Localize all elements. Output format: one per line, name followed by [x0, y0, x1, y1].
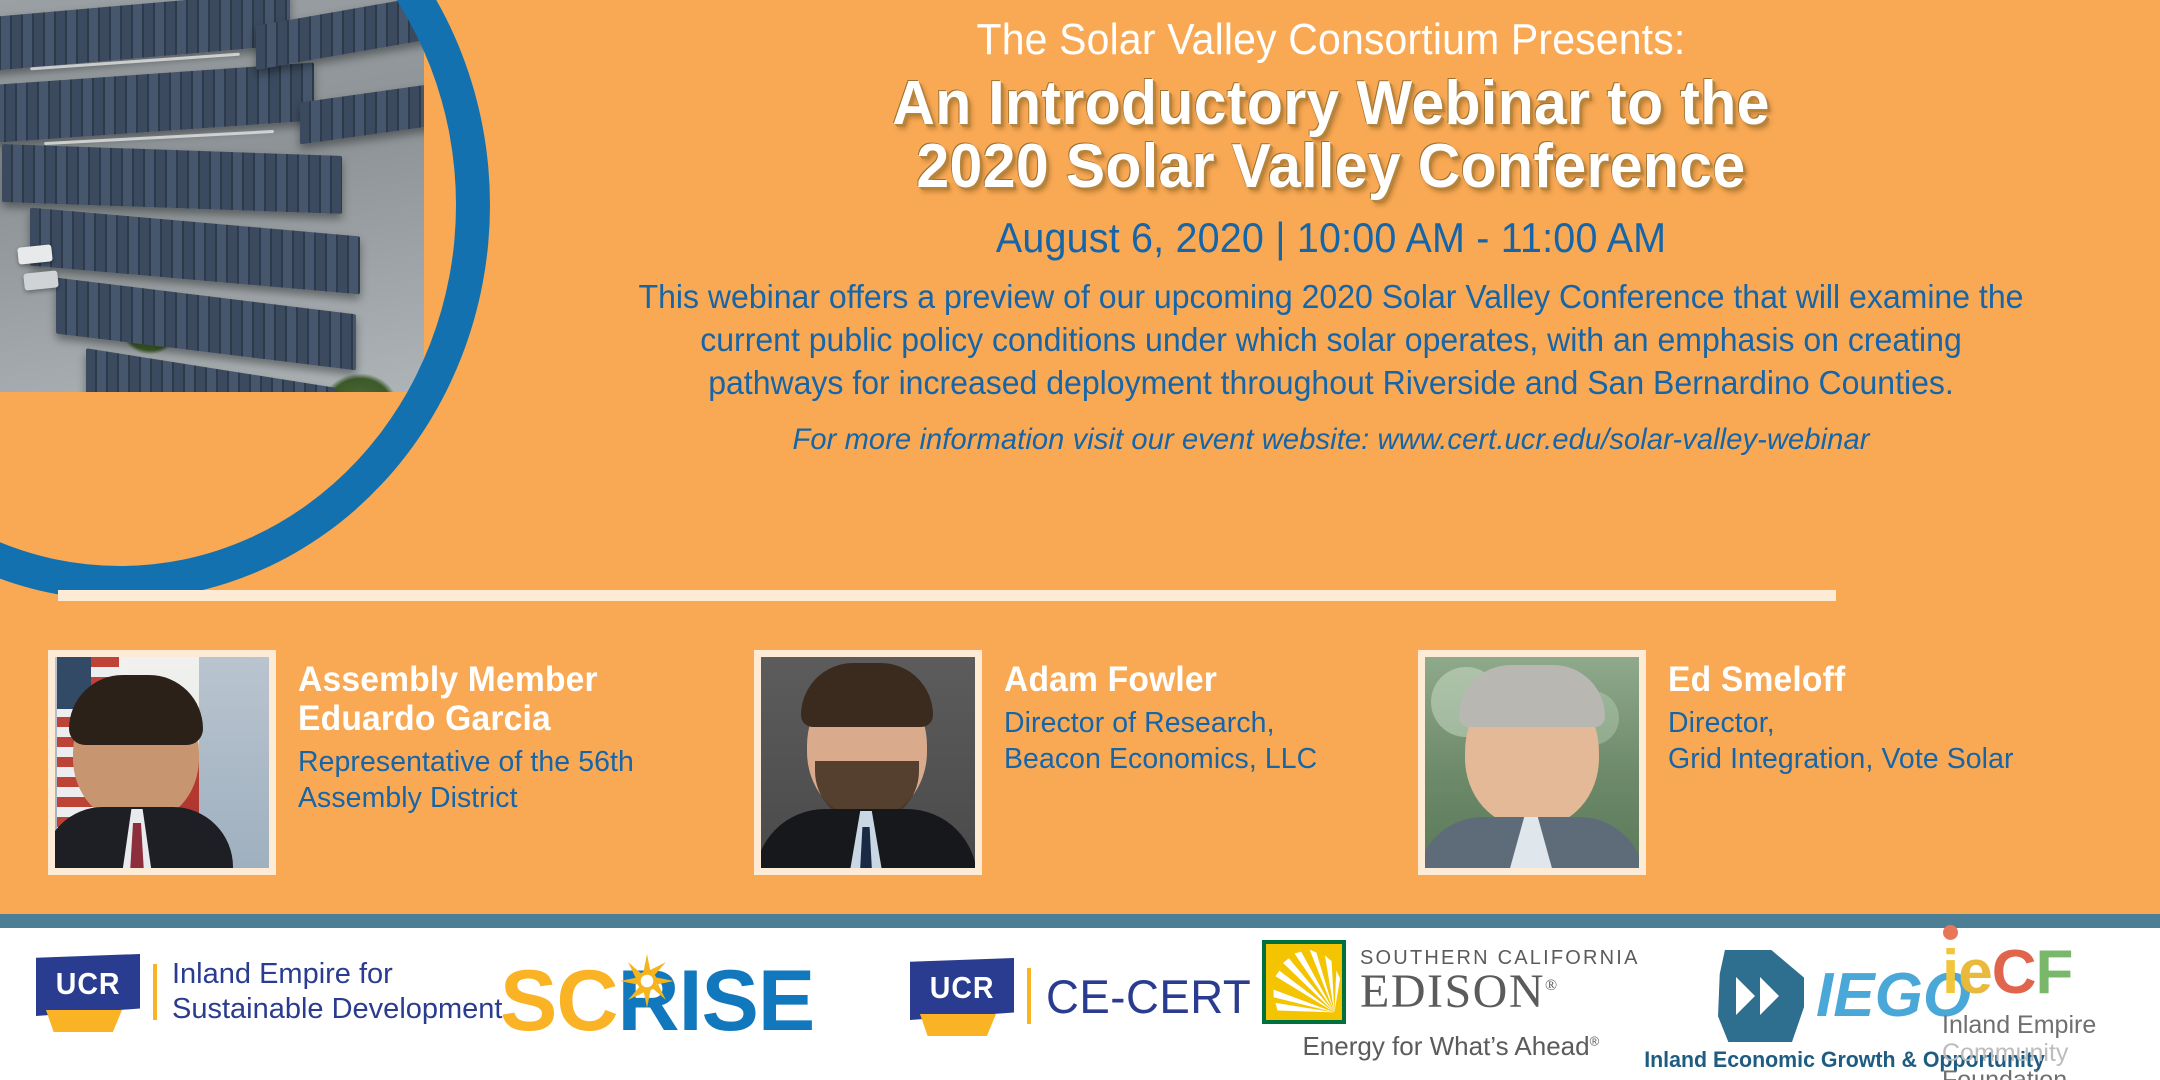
ucr-mark-icon: UCR	[910, 958, 1014, 1034]
registered-mark: ®	[1590, 1033, 1600, 1048]
ucr-wordmark: UCR	[930, 970, 995, 1006]
edison-lockup: SOUTHERN CALIFORNIA EDISON®	[1262, 940, 1640, 1024]
edison-sunburst-icon	[1262, 940, 1346, 1024]
sunburst-rays	[1266, 944, 1342, 1020]
solar-panel-row	[2, 144, 342, 214]
speaker-title-line-2: Grid Integration, Vote Solar	[1668, 742, 2014, 777]
speaker-name-line-2: Eduardo Garcia	[298, 699, 627, 738]
solar-carport-aerial-photo	[0, 0, 600, 600]
iecf-letter-i: i	[1942, 942, 1958, 1004]
scrise-blue-letters: RISE	[617, 953, 814, 1049]
speaker-card: Ed Smeloff Director, Grid Integration, V…	[1418, 650, 2021, 875]
speaker-photo-frame	[1418, 650, 1646, 875]
iecf-wordmark: ieCF	[1942, 942, 2072, 1004]
registered-mark: ®	[1545, 977, 1559, 994]
speaker-text: Ed Smeloff Director, Grid Integration, V…	[1668, 650, 2021, 777]
car	[23, 270, 59, 290]
logo-inland-empire-community-foundation[interactable]: ieCF Inland Empire Community Foundation …	[1942, 942, 2096, 1080]
speaker-title-line-2: Beacon Economics, LLC	[1004, 742, 1317, 777]
speaker-name: Adam Fowler	[1004, 660, 1311, 699]
iego-lockup: IEGO	[1718, 950, 1971, 1042]
logo-scrise[interactable]: SCRISE	[500, 958, 814, 1044]
car	[318, 469, 357, 489]
speaker-title: Director, Grid Integration, Vote Solar	[1668, 706, 2014, 777]
california-chevron-icon	[1718, 950, 1804, 1042]
hair	[1459, 665, 1605, 727]
hero-photo-region	[0, 0, 620, 600]
headline-block: The Solar Valley Consortium Presents: An…	[596, 14, 2066, 457]
solar-panel-row	[300, 81, 450, 144]
speaker-title-line-1: Representative of the 56th	[298, 745, 634, 780]
title-line-1: An Introductory Webinar to the	[633, 72, 2030, 135]
event-description: This webinar offers a preview of our upc…	[618, 276, 2044, 405]
speaker-title-line-2: Assembly District	[298, 781, 634, 816]
hair	[801, 663, 933, 727]
speaker-name: Ed Smeloff	[1668, 660, 2007, 699]
edison-line-main: EDISON®	[1360, 968, 1640, 1017]
speaker-title-line-1: Director,	[1668, 706, 2014, 741]
speaker-name: Assembly Member Eduardo Garcia	[298, 660, 627, 738]
label-line-1: Inland Empire for	[172, 957, 502, 992]
scrise-gold-letters: SC	[500, 953, 617, 1049]
iecf-letter-f: F	[2036, 942, 2073, 1004]
sponsor-logo-bar: UCR Inland Empire for Sustainable Develo…	[0, 928, 2160, 1080]
logo-ucr-inland-empire-sustainable-development[interactable]: UCR Inland Empire for Sustainable Develo…	[36, 954, 502, 1030]
speaker-title: Representative of the 56th Assembly Dist…	[298, 745, 634, 816]
logo-southern-california-edison[interactable]: SOUTHERN CALIFORNIA EDISON® Energy for W…	[1262, 940, 1640, 1062]
speaker-title: Director of Research, Beacon Economics, …	[1004, 706, 1317, 777]
speaker-card: Assembly Member Eduardo Garcia Represent…	[48, 650, 641, 875]
speaker-text: Adam Fowler Director of Research, Beacon…	[1004, 650, 1324, 777]
speaker-name-line-1: Assembly Member	[298, 660, 627, 699]
logo-divider-bar	[1027, 968, 1031, 1024]
section-divider	[58, 590, 1836, 601]
presenter-line: The Solar Valley Consortium Presents:	[647, 14, 2014, 66]
iecf-line-2: Community	[1942, 1040, 2096, 1068]
iecf-line-1: Inland Empire	[1942, 1012, 2096, 1040]
speaker-photo-frame	[754, 650, 982, 875]
logo-divider-bar	[153, 964, 157, 1020]
event-website-line[interactable]: For more information visit our event web…	[618, 423, 2044, 457]
event-datetime: August 6, 2020 | 10:00 AM - 11:00 AM	[640, 214, 2022, 262]
edison-sunburst-inner	[1266, 944, 1342, 1020]
label-line-2: Sustainable Development	[172, 992, 502, 1027]
edison-wordmark: SOUTHERN CALIFORNIA EDISON®	[1360, 948, 1640, 1017]
ucr-mark-icon: UCR	[36, 954, 140, 1030]
speaker-card: Adam Fowler Director of Research, Beacon…	[754, 650, 1324, 875]
ucr-parallelogram: UCR	[910, 958, 1014, 1020]
chevron-icon	[1736, 977, 1755, 1015]
portrait-ed-smeloff	[1425, 657, 1639, 868]
speaker-text: Assembly Member Eduardo Garcia Represent…	[298, 650, 641, 816]
car	[141, 469, 182, 491]
ucr-parallelogram: UCR	[36, 954, 140, 1016]
ce-cert-label: CE-CERT	[1046, 969, 1251, 1024]
page-title: An Introductory Webinar to the 2020 Sola…	[633, 72, 2030, 198]
crosswalk	[32, 415, 127, 484]
speaker-photo-frame	[48, 650, 276, 875]
title-line-2: 2020 Solar Valley Conference	[633, 135, 2030, 198]
speaker-name-line-1: Ed Smeloff	[1668, 660, 2007, 699]
scrise-wordmark: SCRISE	[500, 958, 814, 1044]
ucr-iesd-label: Inland Empire for Sustainable Developmen…	[172, 957, 502, 1028]
car	[227, 485, 268, 507]
footer-separator-rule	[0, 914, 2160, 928]
iecf-line-3: Foundation	[1942, 1067, 2096, 1080]
portrait-adam-fowler	[761, 657, 975, 868]
iecf-name-lines: Inland Empire Community Foundation	[1942, 1012, 2096, 1080]
portrait-eduardo-garcia	[55, 657, 269, 868]
car	[17, 244, 53, 264]
logo-ucr-ce-cert[interactable]: UCR CE-CERT	[910, 958, 1258, 1034]
webinar-promo-banner: The Solar Valley Consortium Presents: An…	[0, 0, 2160, 1080]
edison-tagline: Energy for What’s Ahead®	[1302, 1031, 1599, 1062]
speakers-section: Assembly Member Eduardo Garcia Represent…	[0, 640, 2160, 880]
ucr-gold-tab-icon	[46, 1010, 122, 1032]
iecf-letter-e: e	[1958, 942, 1991, 1004]
road-line	[11, 503, 410, 542]
ucr-gold-tab-icon	[920, 1014, 996, 1036]
iecf-letter-c: C	[1992, 942, 2036, 1004]
speaker-title-line-1: Director of Research,	[1004, 706, 1317, 741]
chevron-icon	[1760, 977, 1779, 1015]
speaker-name-line-1: Adam Fowler	[1004, 660, 1311, 699]
edison-name: EDISON	[1360, 965, 1545, 1018]
edison-tagline-text: Energy for What’s Ahead	[1302, 1031, 1589, 1061]
ucr-wordmark: UCR	[56, 966, 121, 1002]
